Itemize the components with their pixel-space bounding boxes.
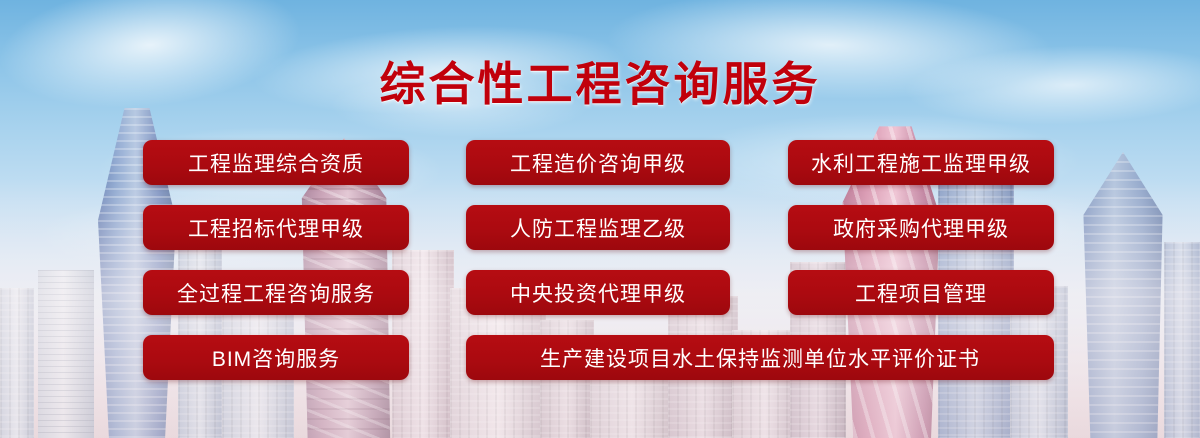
tag-row: 工程招标代理甲级 人防工程监理乙级 政府采购代理甲级 — [0, 205, 1200, 250]
promo-banner: 综合性工程咨询服务 工程监理综合资质 工程造价咨询甲级 水利工程施工监理甲级 工… — [0, 0, 1200, 438]
qualification-tag[interactable]: BIM咨询服务 — [143, 335, 409, 380]
tag-row: BIM咨询服务 生产建设项目水土保持监测单位水平评价证书 — [0, 335, 1200, 380]
tag-row: 全过程工程咨询服务 中央投资代理甲级 工程项目管理 — [0, 270, 1200, 315]
qualification-tag[interactable]: 工程造价咨询甲级 — [466, 140, 730, 185]
qualification-tag[interactable]: 工程项目管理 — [788, 270, 1054, 315]
qualification-tag[interactable]: 生产建设项目水土保持监测单位水平评价证书 — [466, 335, 1054, 380]
qualification-tag[interactable]: 政府采购代理甲级 — [788, 205, 1054, 250]
qualification-tag[interactable]: 水利工程施工监理甲级 — [788, 140, 1054, 185]
tag-row: 工程监理综合资质 工程造价咨询甲级 水利工程施工监理甲级 — [0, 140, 1200, 185]
qualification-tag[interactable]: 工程监理综合资质 — [143, 140, 409, 185]
qualification-tag-grid: 工程监理综合资质 工程造价咨询甲级 水利工程施工监理甲级 工程招标代理甲级 人防… — [0, 140, 1200, 380]
page-title: 综合性工程咨询服务 — [0, 48, 1200, 114]
qualification-tag[interactable]: 中央投资代理甲级 — [466, 270, 730, 315]
qualification-tag[interactable]: 工程招标代理甲级 — [143, 205, 409, 250]
qualification-tag[interactable]: 人防工程监理乙级 — [466, 205, 730, 250]
qualification-tag[interactable]: 全过程工程咨询服务 — [143, 270, 409, 315]
